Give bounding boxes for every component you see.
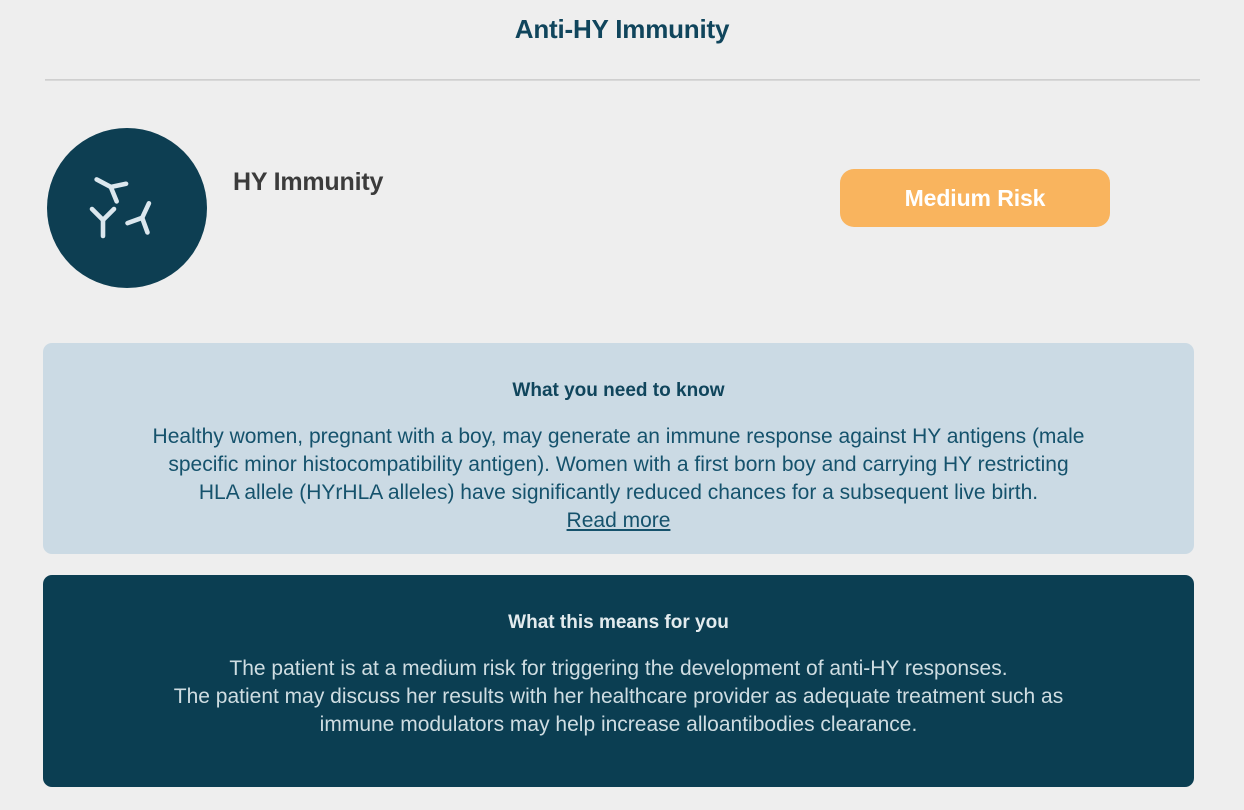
- know-line-1: Healthy women, pregnant with a boy, may …: [153, 425, 1085, 448]
- antibodies-icon: [47, 128, 207, 288]
- title-divider: [45, 79, 1200, 81]
- know-line-2: specific minor histocompatibility antige…: [168, 453, 1068, 476]
- status-badge: Medium Risk: [840, 169, 1110, 227]
- what-this-means-panel: What this means for you The patient is a…: [43, 575, 1194, 787]
- means-line-1: The patient is at a medium risk for trig…: [229, 657, 1007, 680]
- panel-body-know: Healthy women, pregnant with a boy, may …: [43, 402, 1194, 535]
- panel-body-means: The patient is at a medium risk for trig…: [43, 634, 1194, 739]
- trait-label: HY Immunity: [233, 168, 383, 197]
- means-line-2: The patient may discuss her results with…: [174, 685, 1063, 708]
- know-line-3: HLA allele (HYrHLA alleles) have signifi…: [199, 481, 1038, 504]
- panel-heading-means: What this means for you: [43, 575, 1194, 634]
- trait-summary-row: HY Immunity Medium Risk: [0, 128, 1244, 290]
- what-you-need-to-know-panel: What you need to know Healthy women, pre…: [43, 343, 1194, 554]
- page-title: Anti-HY Immunity: [0, 0, 1244, 45]
- means-line-3: immune modulators may help increase allo…: [320, 713, 918, 736]
- read-more-link[interactable]: Read more: [567, 507, 671, 535]
- panel-heading-know: What you need to know: [43, 343, 1194, 402]
